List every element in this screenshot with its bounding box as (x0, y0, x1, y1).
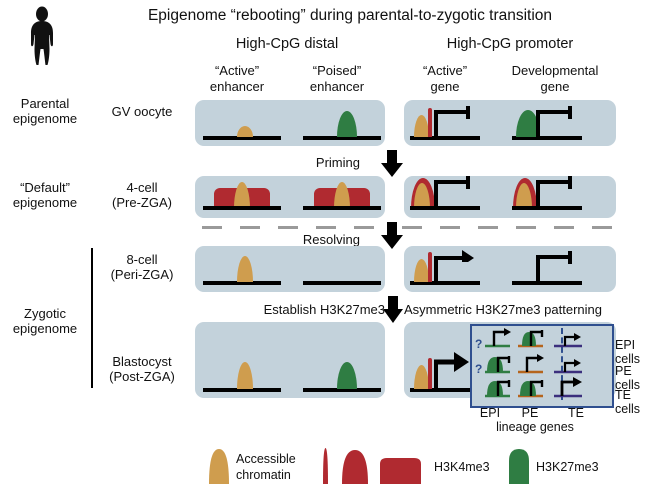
legend-accessible-chromatin-line2: chromatin (236, 468, 291, 483)
lineage-col-label-te: TE (556, 406, 596, 420)
stage-label-gv-oocyte: GV oocyte (96, 104, 188, 120)
lineage-row-label-te: TE cells (615, 388, 650, 416)
establish-arrow-icon (382, 296, 404, 324)
dna-line-r2c3 (410, 206, 480, 210)
lineage-col-label-epi: EPI (470, 406, 510, 420)
lineage-genes-caption: lineage genes (470, 420, 600, 434)
dna-line-r2c1 (203, 206, 281, 210)
tss-stem-r3c4 (536, 255, 540, 282)
priming-arrow-icon (380, 150, 404, 178)
column-header-poised-enhancer-line2: enhancer (290, 79, 384, 95)
dna-line-r3c4 (512, 281, 582, 285)
h3k4me3-r1c3 (428, 108, 432, 137)
tss-stem-r2c4 (536, 180, 540, 207)
gray-dash (354, 226, 374, 229)
column-group-high-cpg-distal: High-CpG distal (192, 36, 382, 53)
lineage-col-label-pe: PE (512, 406, 548, 420)
gray-dash (592, 226, 612, 229)
tss-active-arrow-r3c3 (434, 246, 476, 262)
gray-dash (440, 226, 460, 229)
column-header-active-gene-line1: “Active” (400, 63, 490, 79)
tss-stem-r2c3 (434, 180, 438, 207)
tss-repressor-bar-r3c4 (568, 251, 572, 264)
gray-dash (240, 226, 260, 229)
gray-dash (202, 226, 222, 229)
gray-dash (554, 226, 574, 229)
tss-arm-r1c4 (536, 110, 572, 114)
tss-stem-r1c4 (536, 110, 540, 137)
column-header-developmental-gene-line2: gene (492, 79, 618, 95)
tss-arm-r3c4 (536, 255, 572, 259)
legend-accessible-chromatin-icon (208, 448, 230, 484)
tss-repressor-bar-r1c3 (466, 106, 470, 119)
row-group-default-line2: epigenome (2, 195, 88, 211)
tss-arm-r2c4 (536, 180, 572, 184)
tss-active-arrow-r4c3 (434, 350, 470, 372)
tss-repressor-bar-r1c4 (568, 106, 572, 119)
stage-label-blastocyst-line1: Blastocyst (96, 354, 188, 370)
legend-h3k27me3-label: H3K27me3 (536, 460, 599, 475)
zygotic-bracket-divider (91, 248, 93, 388)
gray-dash (278, 226, 298, 229)
dna-line-r2c4 (512, 206, 582, 210)
stage-label-blastocyst-line2: (Post-ZGA) (96, 369, 188, 385)
h3k4me3-r4c3 (428, 358, 432, 389)
legend-h3k27me3-icon (508, 448, 530, 484)
gray-dash (478, 226, 498, 229)
column-group-high-cpg-promoter: High-CpG promoter (404, 36, 616, 53)
lineage-grid-glyphs (470, 324, 610, 404)
dna-line-r3c2 (303, 281, 381, 285)
row-group-default-line1: “Default” (2, 180, 88, 196)
tss-repressor-bar-r2c3 (466, 176, 470, 189)
gray-dash (516, 226, 536, 229)
figure-title: Epigenome “rebooting” during parental-to… (60, 6, 640, 25)
dna-line-r2c2 (303, 206, 381, 210)
tss-arm-r2c3 (434, 180, 470, 184)
stage-label-4-cell-line1: 4-cell (96, 180, 188, 196)
row-group-parental-line2: epigenome (2, 111, 88, 127)
gray-dash (402, 226, 422, 229)
column-header-active-gene-line2: gene (400, 79, 490, 95)
row-group-zygotic-line1: Zygotic (2, 306, 88, 322)
lineage-row-label-epi: EPI cells (615, 338, 650, 366)
stage-label-4-cell-line2: (Pre-ZGA) (96, 195, 188, 211)
column-header-poised-enhancer-line1: “Poised” (290, 63, 384, 79)
tss-stem-r1c3 (434, 110, 438, 137)
transition-label-resolving: Resolving (230, 232, 360, 247)
column-header-developmental-gene-line1: Developmental (492, 63, 618, 79)
column-header-active-enhancer-line2: enhancer (190, 79, 284, 95)
row-group-zygotic-line2: epigenome (2, 321, 88, 337)
legend-h3k4me3-label: H3K4me3 (434, 460, 490, 475)
stage-label-8-cell-line1: 8-cell (96, 252, 188, 268)
row-group-parental-line1: Parental (2, 96, 88, 112)
legend-accessible-chromatin-line1: Accessible (236, 452, 296, 467)
tss-repressor-bar-r2c4 (568, 176, 572, 189)
gray-dash (316, 226, 336, 229)
tss-arm-r1c3 (434, 110, 470, 114)
transition-label-establish-h3k27me3: Establish H3K27me3 (215, 302, 385, 317)
column-header-active-enhancer-line1: “Active” (190, 63, 284, 79)
human-silhouette-icon (22, 6, 62, 68)
transition-label-priming: Priming (230, 155, 360, 170)
h3k4me3-r3c3 (428, 252, 432, 282)
stage-label-8-cell-line2: (Peri-ZGA) (96, 267, 188, 283)
panel-8cell-distal (195, 246, 385, 292)
resolving-arrow-icon (380, 222, 404, 250)
transition-label-asymmetric-patterning: Asymmetric H3K27me3 patterning (404, 302, 639, 317)
legend-h3k4me3-icon (318, 448, 428, 484)
